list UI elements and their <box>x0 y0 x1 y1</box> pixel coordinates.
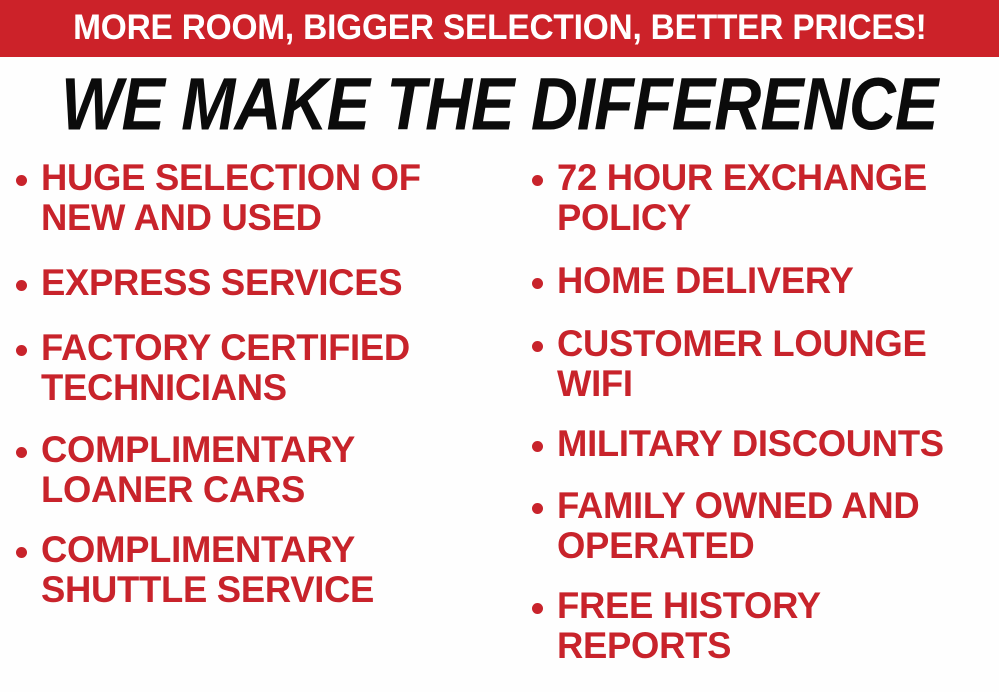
bullet-dot-icon <box>532 341 543 352</box>
list-item: HUGE SELECTION OF NEW AND USED <box>16 158 508 238</box>
bullet-dot-icon <box>532 503 543 514</box>
banner-headline-text: MORE ROOM, BIGGER SELECTION, BETTER PRIC… <box>73 10 926 47</box>
list-item: HOME DELIVERY <box>532 261 997 301</box>
bullet-dot-icon <box>532 441 543 452</box>
bullet-dot-icon <box>532 175 543 186</box>
list-item: FREE HISTORY REPORTS <box>532 586 997 666</box>
bullet-label: FAMILY OWNED AND OPERATED <box>557 486 990 566</box>
bullet-column-right: 72 HOUR EXCHANGE POLICY HOME DELIVERY CU… <box>512 158 999 690</box>
list-item: CUSTOMER LOUNGE WIFI <box>532 324 997 404</box>
list-item: 72 HOUR EXCHANGE POLICY <box>532 158 997 238</box>
bullet-dot-icon <box>16 547 27 558</box>
list-item: FAMILY OWNED AND OPERATED <box>532 486 997 566</box>
list-item: COMPLIMENTARY SHUTTLE SERVICE <box>16 530 508 610</box>
bullet-label: HOME DELIVERY <box>557 261 854 301</box>
top-banner: MORE ROOM, BIGGER SELECTION, BETTER PRIC… <box>0 0 999 57</box>
list-item: FACTORY CERTIFIED TECHNICIANS <box>16 328 508 408</box>
bullet-label: COMPLIMENTARY LOANER CARS <box>41 430 501 510</box>
bullet-dot-icon <box>532 603 543 614</box>
bullet-dot-icon <box>16 175 27 186</box>
bullet-label: MILITARY DISCOUNTS <box>557 424 944 464</box>
bullet-label: CUSTOMER LOUNGE WIFI <box>557 324 990 404</box>
bullet-label: EXPRESS SERVICES <box>41 263 402 303</box>
bullet-label: FREE HISTORY REPORTS <box>557 586 990 666</box>
bullet-label: COMPLIMENTARY SHUTTLE SERVICE <box>41 530 501 610</box>
list-item: EXPRESS SERVICES <box>16 263 508 303</box>
bullet-dot-icon <box>16 280 27 291</box>
bullet-dot-icon <box>16 447 27 458</box>
bullet-label: 72 HOUR EXCHANGE POLICY <box>557 158 990 238</box>
bullet-dot-icon <box>16 345 27 356</box>
list-item: MILITARY DISCOUNTS <box>532 424 997 464</box>
page-title: WE MAKE THE DIFFERENCE <box>61 66 937 142</box>
list-item: COMPLIMENTARY LOANER CARS <box>16 430 508 510</box>
bullet-dot-icon <box>532 278 543 289</box>
bullet-column-left: HUGE SELECTION OF NEW AND USED EXPRESS S… <box>0 158 512 634</box>
promotional-poster: MORE ROOM, BIGGER SELECTION, BETTER PRIC… <box>0 0 999 692</box>
bullet-label: HUGE SELECTION OF NEW AND USED <box>41 158 501 238</box>
headline-block: WE MAKE THE DIFFERENCE <box>0 66 999 138</box>
bullet-columns: HUGE SELECTION OF NEW AND USED EXPRESS S… <box>0 158 999 692</box>
bullet-label: FACTORY CERTIFIED TECHNICIANS <box>41 328 501 408</box>
